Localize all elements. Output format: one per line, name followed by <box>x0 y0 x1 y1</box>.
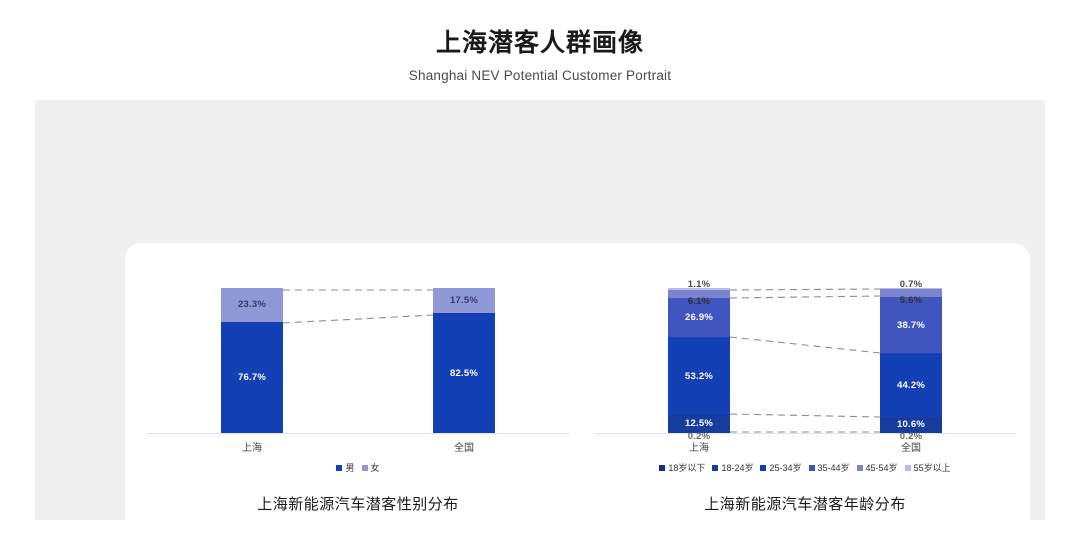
legend-item[interactable]: 18岁以下 <box>659 461 705 474</box>
bar-segment-label: 0.2% <box>688 431 710 442</box>
bar-segment: 82.5% <box>433 313 495 433</box>
bar-segment-label: 23.3% <box>238 299 266 310</box>
bar-segment: 76.7% <box>221 322 283 433</box>
legend-swatch-icon <box>362 465 368 471</box>
category-label-national: 全国 <box>433 439 495 454</box>
legend-label: 35-44岁 <box>818 461 850 474</box>
gender-chart: 23.3%76.7%17.5%82.5% 上海 全国 男女 上海新能源汽车潜客性… <box>133 243 583 547</box>
stacked-bar: 0.7%5.6%38.7%44.2%10.6%0.2% <box>880 288 942 433</box>
bar-segment: 44.2% <box>880 353 942 417</box>
legend-swatch-icon <box>905 465 911 471</box>
page-title: 上海潜客人群画像 <box>0 28 1080 58</box>
bar-segment: 12.5% <box>668 415 730 433</box>
bar-segment-label: 12.5% <box>685 418 713 429</box>
bar-segment-label: 0.2% <box>900 431 922 442</box>
bar-segment-label: 76.7% <box>238 372 266 383</box>
legend-label: 18岁以下 <box>668 461 705 474</box>
legend-swatch-icon <box>659 465 665 471</box>
legend-label: 45-54岁 <box>866 461 898 474</box>
legend-swatch-icon <box>760 465 766 471</box>
gender-chart-caption: 上海新能源汽车潜客性别分布 <box>133 493 583 514</box>
gender-chart-axis <box>147 433 569 434</box>
bar-segment: 53.2% <box>668 337 730 414</box>
legend-label: 25-34岁 <box>769 461 801 474</box>
bar-segment-label: 53.2% <box>685 371 713 382</box>
bar-segment: 6.1% <box>668 290 730 299</box>
age-chart-bars: 1.1%6.1%26.9%53.2%12.5%0.2%0.7%5.6%38.7%… <box>580 288 1030 433</box>
age-chart-category-labels: 上海 全国 <box>580 439 1030 455</box>
bar-segment-label: 44.2% <box>897 380 925 391</box>
slide-root: 上海潜客人群画像 Shanghai NEV Potential Customer… <box>0 0 1080 547</box>
stacked-bar: 1.1%6.1%26.9%53.2%12.5%0.2% <box>668 288 730 433</box>
legend-swatch-icon <box>712 465 718 471</box>
legend-item[interactable]: 55岁以上 <box>905 461 951 474</box>
legend-item[interactable]: 女 <box>362 461 380 474</box>
legend-label: 女 <box>371 461 380 474</box>
legend-label: 男 <box>345 461 354 474</box>
slide-header: 上海潜客人群画像 Shanghai NEV Potential Customer… <box>0 0 1080 83</box>
legend-item[interactable]: 25-34岁 <box>760 461 801 474</box>
gender-chart-bars: 23.3%76.7%17.5%82.5% <box>133 288 583 433</box>
bar-segment-label: 38.7% <box>897 320 925 331</box>
bar-segment: 23.3% <box>221 288 283 322</box>
bar-segment-label: 1.1% <box>688 279 710 290</box>
age-chart: 1.1%6.1%26.9%53.2%12.5%0.2%0.7%5.6%38.7%… <box>580 243 1030 547</box>
bar-segment: 5.6% <box>880 289 942 297</box>
legend-item[interactable]: 男 <box>336 461 354 474</box>
page-subtitle: Shanghai NEV Potential Customer Portrait <box>0 68 1080 83</box>
age-chart-axis <box>594 433 1016 434</box>
age-chart-legend: 18岁以下18-24岁25-34岁35-44岁45-54岁55岁以上 <box>580 461 1030 474</box>
legend-label: 55岁以上 <box>914 461 951 474</box>
legend-item[interactable]: 18-24岁 <box>712 461 753 474</box>
bar-segment-label: 82.5% <box>450 368 478 379</box>
bar-segment: 17.5% <box>433 288 495 313</box>
legend-swatch-icon <box>336 465 342 471</box>
bar-segment-label: 10.6% <box>897 419 925 430</box>
category-label-shanghai: 上海 <box>221 439 283 454</box>
charts-card: 23.3%76.7%17.5%82.5% 上海 全国 男女 上海新能源汽车潜客性… <box>125 243 1030 547</box>
bar-segment-label: 26.9% <box>685 312 713 323</box>
stacked-bar: 17.5%82.5% <box>433 288 495 433</box>
legend-swatch-icon <box>809 465 815 471</box>
legend-item[interactable]: 35-44岁 <box>809 461 850 474</box>
gender-chart-legend: 男女 <box>133 461 583 474</box>
bar-segment-label: 5.6% <box>900 295 922 306</box>
legend-label: 18-24岁 <box>721 461 753 474</box>
age-chart-caption: 上海新能源汽车潜客年龄分布 <box>580 493 1030 514</box>
legend-item[interactable]: 45-54岁 <box>857 461 898 474</box>
stacked-bar: 23.3%76.7% <box>221 288 283 433</box>
bar-segment-label: 17.5% <box>450 295 478 306</box>
gender-chart-category-labels: 上海 全国 <box>133 439 583 455</box>
bar-segment-label: 0.7% <box>900 279 922 290</box>
bar-segment-label: 6.1% <box>688 296 710 307</box>
legend-swatch-icon <box>857 465 863 471</box>
content-panel: 23.3%76.7%17.5%82.5% 上海 全国 男女 上海新能源汽车潜客性… <box>35 100 1045 520</box>
